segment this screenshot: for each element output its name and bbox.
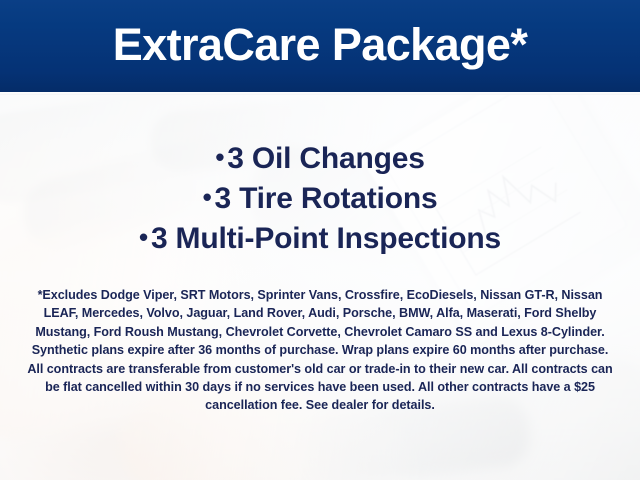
page-title: ExtraCare Package* [0,17,640,73]
feature-list-item: •3 Multi-Point Inspections [0,218,640,258]
feature-list-item-label: 3 Tire Rotations [214,182,437,215]
bullet-icon: • [139,222,151,252]
bullet-icon: • [215,142,227,172]
feature-list-item-label: 3 Oil Changes [227,142,424,175]
feature-list: •3 Oil Changes •3 Tire Rotations •3 Mult… [0,138,640,258]
banner-underline-divider [0,92,640,95]
feature-list-item: •3 Tire Rotations [0,178,640,218]
header-banner: ExtraCare Package* [0,0,640,92]
disclaimer-text: *Excludes Dodge Viper, SRT Motors, Sprin… [26,286,614,415]
extracare-package-ad: ExtraCare Package* •3 Oil Changes •3 Tir… [0,0,640,480]
bullet-icon: • [203,182,215,212]
disclaimer-block: *Excludes Dodge Viper, SRT Motors, Sprin… [26,286,614,415]
feature-list-item: •3 Oil Changes [0,138,640,178]
feature-list-item-label: 3 Multi-Point Inspections [151,222,501,255]
